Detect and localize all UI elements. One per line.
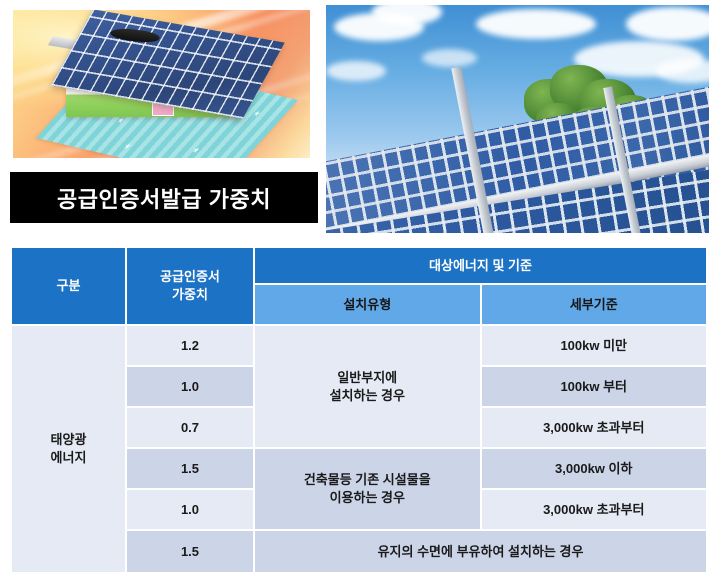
solar-panel-array-photo [326,5,709,233]
solar-panel-house-illustration [13,10,310,158]
cell-detail-criteria: 3,000kw 이하 [482,449,707,488]
cell-weight: 1.5 [127,449,253,488]
header-detail-criteria: 세부기준 [482,285,707,324]
cell-install-type-existing-building: 건축물등 기존 시설물을 이용하는 경우 [255,449,480,529]
table-header-row-1: 구분 공급인증서 가중치 대상에너지 및 기준 [12,248,706,283]
certificate-weighting-table: 구분 공급인증서 가중치 대상에너지 및 기준 설치유형 세부기준 태양광 에너… [10,246,708,574]
cell-install-type-floating-water: 유지의 수면에 부유하여 설치하는 경우 [255,531,706,572]
header-install-type: 설치유형 [255,285,480,324]
header-certificate-weight: 공급인증서 가중치 [127,248,253,324]
cell-detail-criteria: 3,000kw 초과부터 [482,490,707,529]
cell-weight: 1.0 [127,490,253,529]
header-target-energy-group: 대상에너지 및 기준 [255,248,706,283]
cell-install-type-general-site: 일반부지에 설치하는 경우 [255,326,480,447]
cell-detail-criteria: 100kw 미만 [482,326,707,365]
cell-weight: 1.5 [127,531,253,572]
header-division: 구분 [12,248,125,324]
cell-detail-criteria: 3,000kw 초과부터 [482,408,707,447]
cell-division-solar-energy: 태양광 에너지 [12,326,125,572]
cell-weight: 1.2 [127,326,253,365]
cell-detail-criteria: 100kw 부터 [482,367,707,406]
table-row: 태양광 에너지 1.2 일반부지에 설치하는 경우 100kw 미만 [12,326,706,365]
cell-weight: 1.0 [127,367,253,406]
title-banner: 공급인증서발급 가중치 [10,172,318,223]
page-title: 공급인증서발급 가중치 [57,182,271,214]
cell-weight: 0.7 [127,408,253,447]
